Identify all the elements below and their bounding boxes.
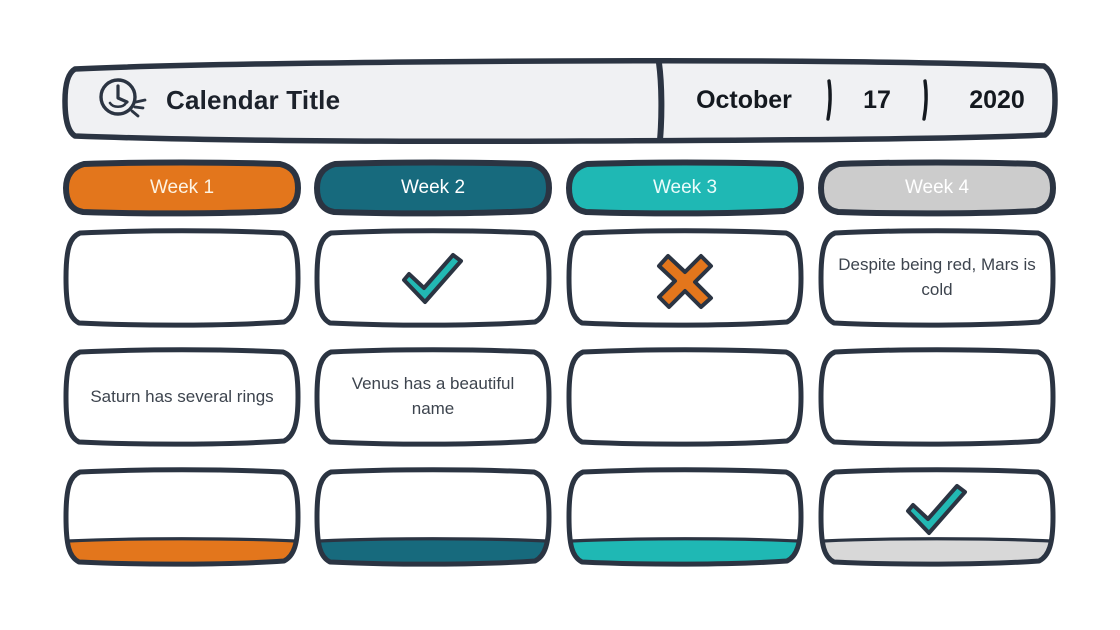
calendar-slide: Calendar Title October 17 2020 Week 1 We…	[0, 0, 1120, 630]
header-date-group: October 17 2020	[670, 55, 1058, 145]
cell-r2c2-text: Venus has a beautiful name	[313, 347, 553, 447]
cell-r3c2[interactable]	[313, 467, 553, 567]
check-icon	[396, 246, 470, 310]
alarm-clock-icon	[96, 74, 148, 126]
week-header-4[interactable]: Week 4	[817, 160, 1057, 216]
cell-r2c1[interactable]: Saturn has several rings	[62, 347, 302, 447]
cell-r1c4[interactable]: Despite being red, Mars is cold	[817, 228, 1057, 328]
cell-r2c3[interactable]	[565, 347, 805, 447]
cell-r3c1[interactable]	[62, 467, 302, 567]
cell-r3c3[interactable]	[565, 467, 805, 567]
page-title: Calendar Title	[166, 85, 340, 116]
date-month[interactable]: October	[670, 86, 818, 115]
date-separator-1	[818, 78, 840, 122]
week-header-2-label: Week 2	[313, 160, 553, 216]
cell-r2c3-text	[565, 347, 805, 447]
cell-r3c2-text	[313, 467, 553, 567]
check-icon	[900, 477, 974, 541]
cell-r3c3-text	[565, 467, 805, 567]
cell-r2c1-text: Saturn has several rings	[62, 347, 302, 447]
date-year[interactable]: 2020	[936, 86, 1058, 115]
header-bar: Calendar Title October 17 2020	[62, 55, 1058, 145]
cross-icon	[648, 246, 722, 310]
cell-r2c4-text	[817, 347, 1057, 447]
date-separator-2	[914, 78, 936, 122]
cell-r3c1-text	[62, 467, 302, 567]
cell-r1c2[interactable]	[313, 228, 553, 328]
cell-r2c2[interactable]: Venus has a beautiful name	[313, 347, 553, 447]
cell-r1c4-text: Despite being red, Mars is cold	[817, 228, 1057, 328]
week-header-2[interactable]: Week 2	[313, 160, 553, 216]
date-day[interactable]: 17	[840, 86, 914, 115]
cell-r1c1-text	[62, 228, 302, 328]
week-header-3[interactable]: Week 3	[565, 160, 805, 216]
cell-r1c3[interactable]	[565, 228, 805, 328]
week-header-1-label: Week 1	[62, 160, 302, 216]
cell-r3c4[interactable]	[817, 467, 1057, 567]
header-title-group: Calendar Title	[96, 55, 340, 145]
week-header-1[interactable]: Week 1	[62, 160, 302, 216]
cell-r2c4[interactable]	[817, 347, 1057, 447]
cell-r1c1[interactable]	[62, 228, 302, 328]
week-header-4-label: Week 4	[817, 160, 1057, 216]
week-header-3-label: Week 3	[565, 160, 805, 216]
